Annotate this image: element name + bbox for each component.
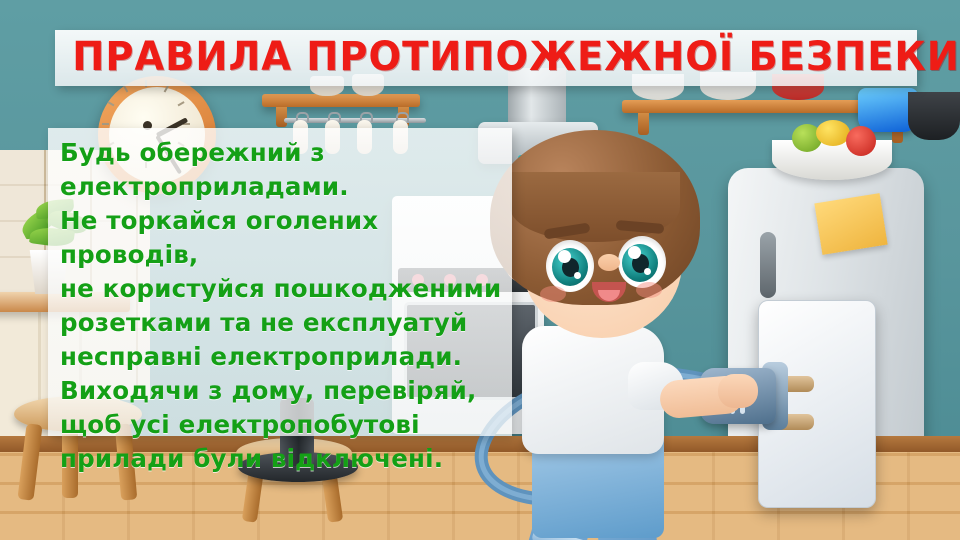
cooking-pot-icon bbox=[908, 92, 960, 140]
eye-glint bbox=[558, 250, 571, 263]
eye-glint bbox=[644, 268, 651, 275]
safety-rules-text: Будь обережний з електроприладами. Не то… bbox=[60, 136, 508, 476]
lemon-icon bbox=[816, 120, 850, 146]
strawberry-icon bbox=[846, 126, 876, 156]
eye-glint bbox=[628, 246, 641, 259]
safety-text-panel: Будь обережний з електроприладами. Не то… bbox=[48, 128, 512, 436]
eye-glint bbox=[574, 272, 581, 279]
sticky-note-icon bbox=[814, 193, 887, 255]
page-title: ПРАВИЛА ПРОТИПОЖЕЖНОЇ БЕЗПЕКИ bbox=[72, 34, 900, 80]
shelf-brace bbox=[276, 107, 287, 127]
nose bbox=[598, 254, 620, 271]
boy-character bbox=[470, 130, 770, 530]
hand bbox=[718, 374, 758, 408]
cheek-right bbox=[636, 282, 662, 298]
wall-shelf-left bbox=[262, 94, 420, 107]
cheek-left bbox=[540, 286, 566, 302]
fire-safety-poster: ПРАВИЛА ПРОТИПОЖЕЖНОЇ БЕЗПЕКИ Будь обере… bbox=[0, 0, 960, 540]
title-banner: ПРАВИЛА ПРОТИПОЖЕЖНОЇ БЕЗПЕКИ bbox=[55, 30, 917, 86]
